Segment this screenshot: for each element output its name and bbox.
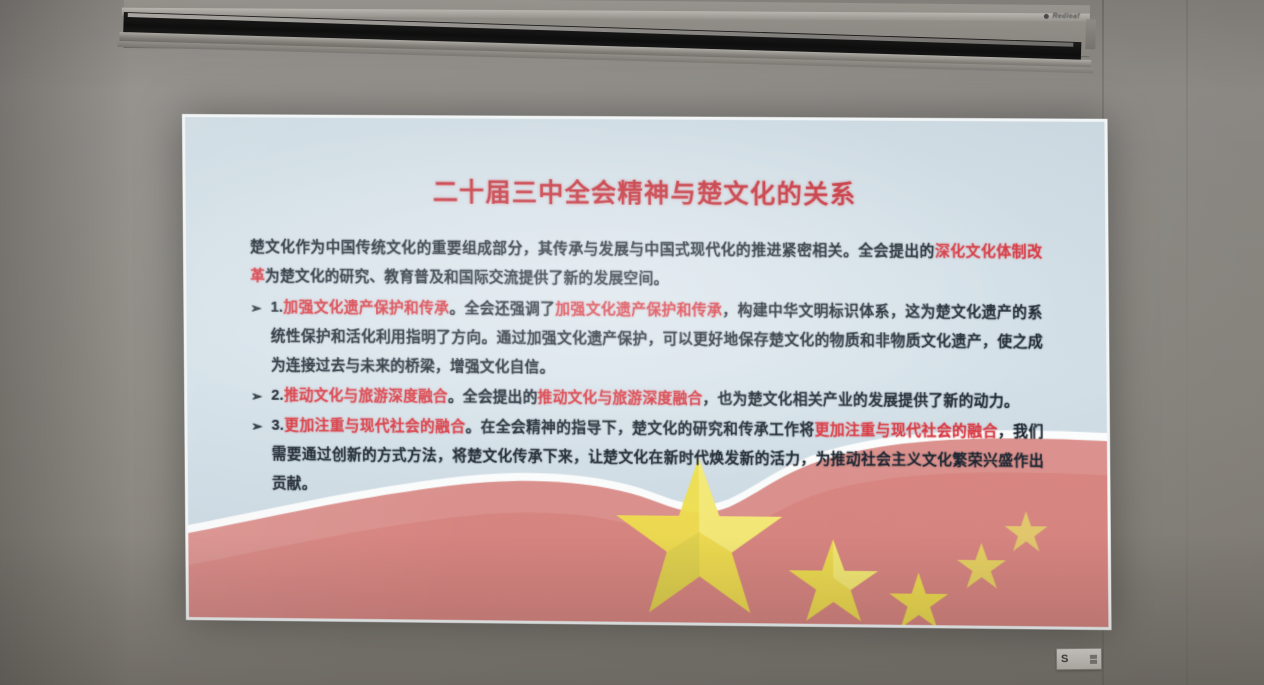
bullet-arrow-icon: ➢ [250,293,271,380]
bullet-after-heading: 。全会还强调了 [449,301,555,318]
slide-intro-paragraph: 楚文化作为中国传统文化的重要组成部分，其传承与发展与中国式现代化的推进紧密相关。… [250,233,1043,297]
bullet-number: 2. [271,388,284,404]
bullet-tail: ，也为楚文化相关产业的发展提供了新的动力。 [702,391,1019,410]
bullet-after-heading: 。全会提出的 [448,389,538,406]
bullet-text: 1.加强文化遗产保护和传承。全会还强调了加强文化遗产保护和传承，构建中华文明标识… [270,294,1043,387]
bullet-arrow-icon: ➢ [251,412,272,499]
intro-text-part2: 为楚文化的研究、教育普及和国际交流提供了新的发展空间。 [265,269,668,288]
bullet-inline-highlight: 更加注重与现代社会的融合 [815,422,998,440]
bullet-after-heading: 。在全会精神的指导下，楚文化的研究和传承工作将 [465,419,814,438]
vignette-bottom [0,535,1264,685]
bullet-arrow-icon: ➢ [251,382,271,411]
list-item: ➢ 1.加强文化遗产保护和传承。全会还强调了加强文化遗产保护和传承，构建中华文明… [250,293,1043,387]
slide-bullet-list: ➢ 1.加强文化遗产保护和传承。全会还强调了加强文化遗产保护和传承，构建中华文明… [250,293,1044,506]
bullet-heading: 推动文化与旅游深度融合 [284,388,448,405]
slide-title: 二十届三中全会精神与楚文化的关系 [249,171,1041,212]
intro-text-part1: 楚文化作为中国传统文化的重要组成部分，其传承与发展与中国式现代化的推进紧密相关。… [250,239,935,260]
bullet-inline-highlight: 加强文化遗产保护和传承 [555,302,722,319]
bullet-heading: 加强文化遗产保护和传承 [283,300,449,317]
vignette-top [0,0,1264,90]
bullet-heading: 更加注重与现代社会的融合 [284,418,465,436]
bullet-number: 3. [271,418,284,434]
bullet-number: 1. [271,300,284,316]
classroom-scene: Redleaf [0,0,1264,685]
bullet-inline-highlight: 推动文化与旅游深度融合 [538,390,703,407]
bullet-text: 3.更加注重与现代社会的融合。在全会精神的指导下，楚文化的研究和传承工作将更加注… [271,412,1044,506]
list-item: ➢ 3.更加注重与现代社会的融合。在全会精神的指导下，楚文化的研究和传承工作将更… [251,412,1044,507]
